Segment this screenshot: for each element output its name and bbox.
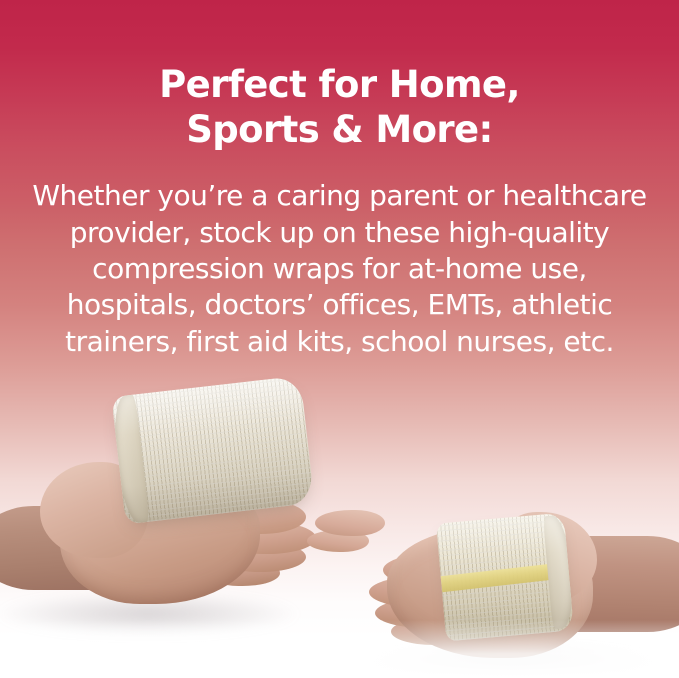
page-title: Perfect for Home, Sports & More:: [105, 62, 575, 152]
wrap-shading: [111, 376, 314, 525]
subcopy-line-3: compression wraps for at-home use,: [18, 251, 661, 287]
product-photo: [0, 410, 679, 678]
right-hand-holding-small-wrap: [329, 502, 679, 678]
subcopy-line-4: hospitals, doctors’ offices, EMTs, athle…: [18, 287, 661, 323]
wrap-shading: [436, 513, 574, 642]
subcopy-line-5: trainers, first aid kits, school nurses,…: [18, 324, 661, 360]
subcopy-paragraph: Whether you’re a caring parent or health…: [18, 178, 661, 360]
headline-line-2: Sports & More:: [105, 107, 575, 152]
headline-line-1: Perfect for Home,: [105, 62, 575, 107]
copy-block: Perfect for Home, Sports & More: Whether…: [0, 0, 679, 360]
large-compression-wrap-roll: [111, 376, 314, 525]
subcopy-line-2: provider, stock up on these high-quality: [18, 215, 661, 251]
left-hand-holding-large-wrap: [0, 440, 322, 620]
subcopy-line-1: Whether you’re a caring parent or health…: [18, 178, 661, 214]
right-hand-far-ring-finger: [315, 510, 385, 536]
small-compression-wrap-roll: [436, 513, 574, 642]
product-banner: Perfect for Home, Sports & More: Whether…: [0, 0, 679, 678]
